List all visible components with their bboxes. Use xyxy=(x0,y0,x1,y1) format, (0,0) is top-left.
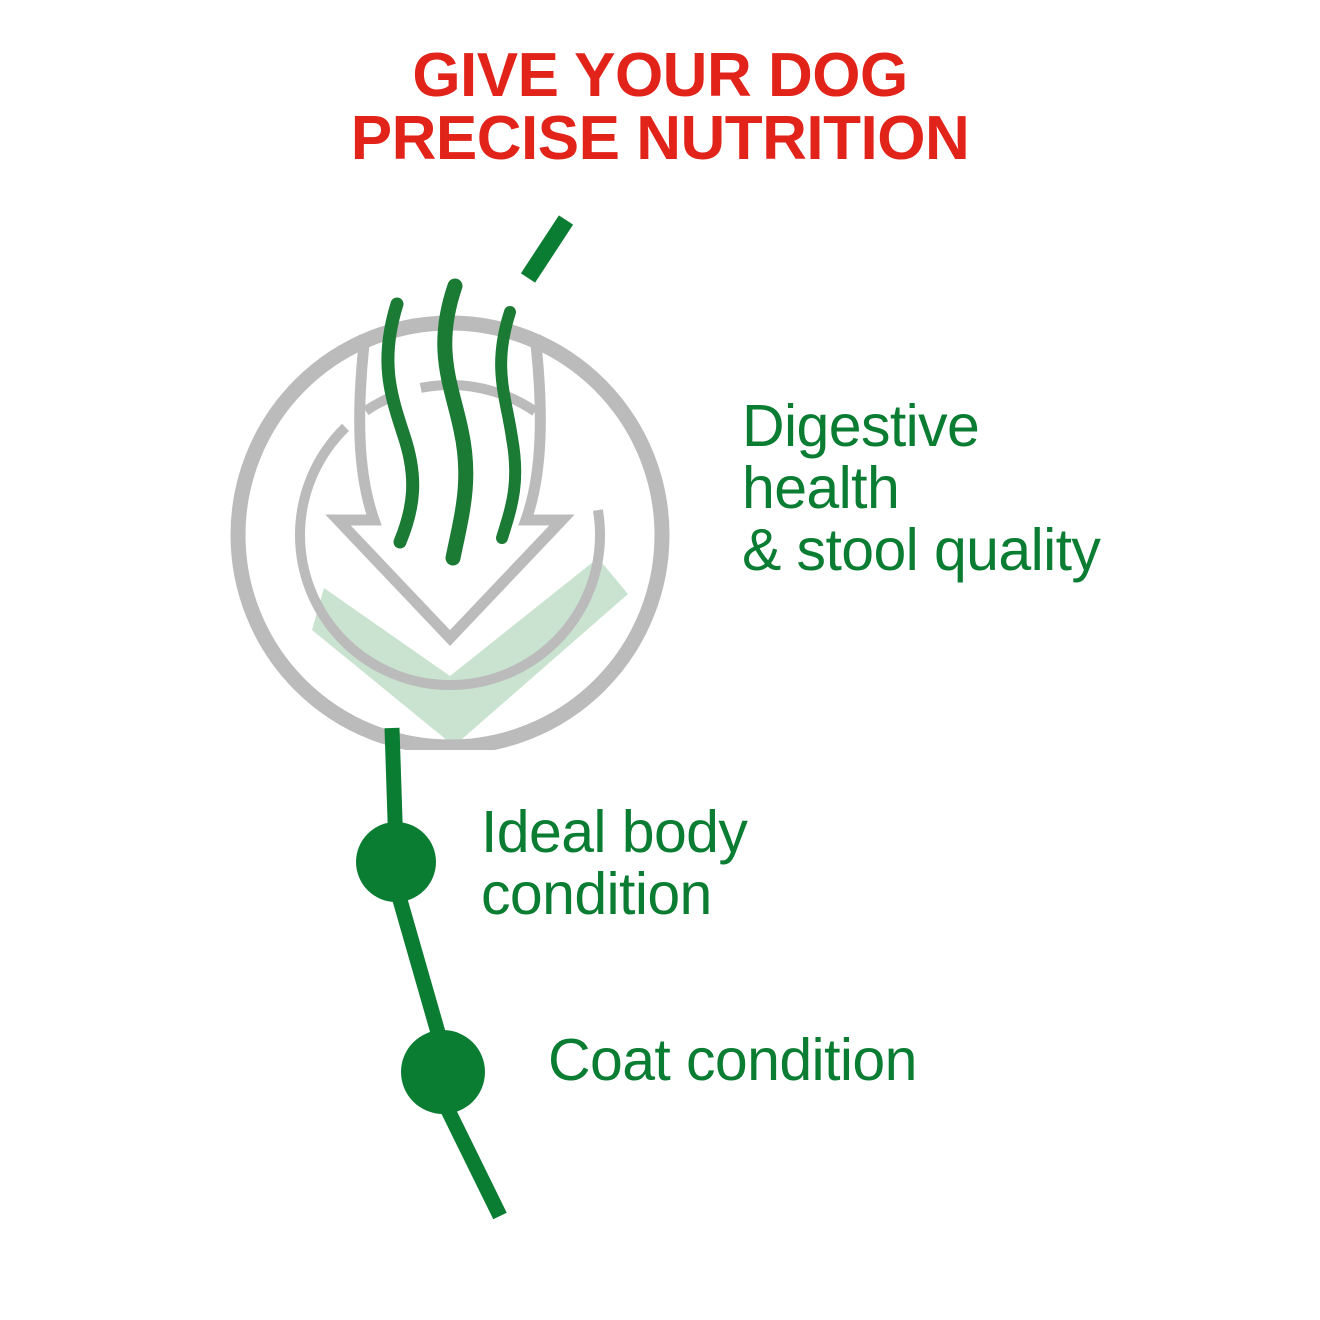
headline-line-2: PRECISE NUTRITION xyxy=(0,107,1320,170)
steam-line-left xyxy=(388,304,413,542)
connector-dot-1 xyxy=(356,822,436,902)
footer xyxy=(0,1190,1320,1320)
page-title: GIVE YOUR DOG PRECISE NUTRITION xyxy=(0,44,1320,170)
digestive-health-icon xyxy=(228,190,688,750)
steam-line-right xyxy=(501,312,515,538)
benefit-label-ideal-body-condition: Ideal body condition xyxy=(481,802,951,926)
benefit-connector xyxy=(330,700,590,1220)
connector-stub-top xyxy=(528,220,566,278)
connector-dot-2 xyxy=(401,1030,485,1114)
benefit-label-digestive-health: Digestive health & stool quality xyxy=(742,396,1282,582)
benefit-label-coat-condition: Coat condition xyxy=(548,1030,1118,1092)
headline-line-1: GIVE YOUR DOG xyxy=(412,41,907,110)
connector-segment-2 xyxy=(396,886,443,1050)
poster-canvas: GIVE YOUR DOG PRECISE NUTRITION xyxy=(0,0,1320,1320)
